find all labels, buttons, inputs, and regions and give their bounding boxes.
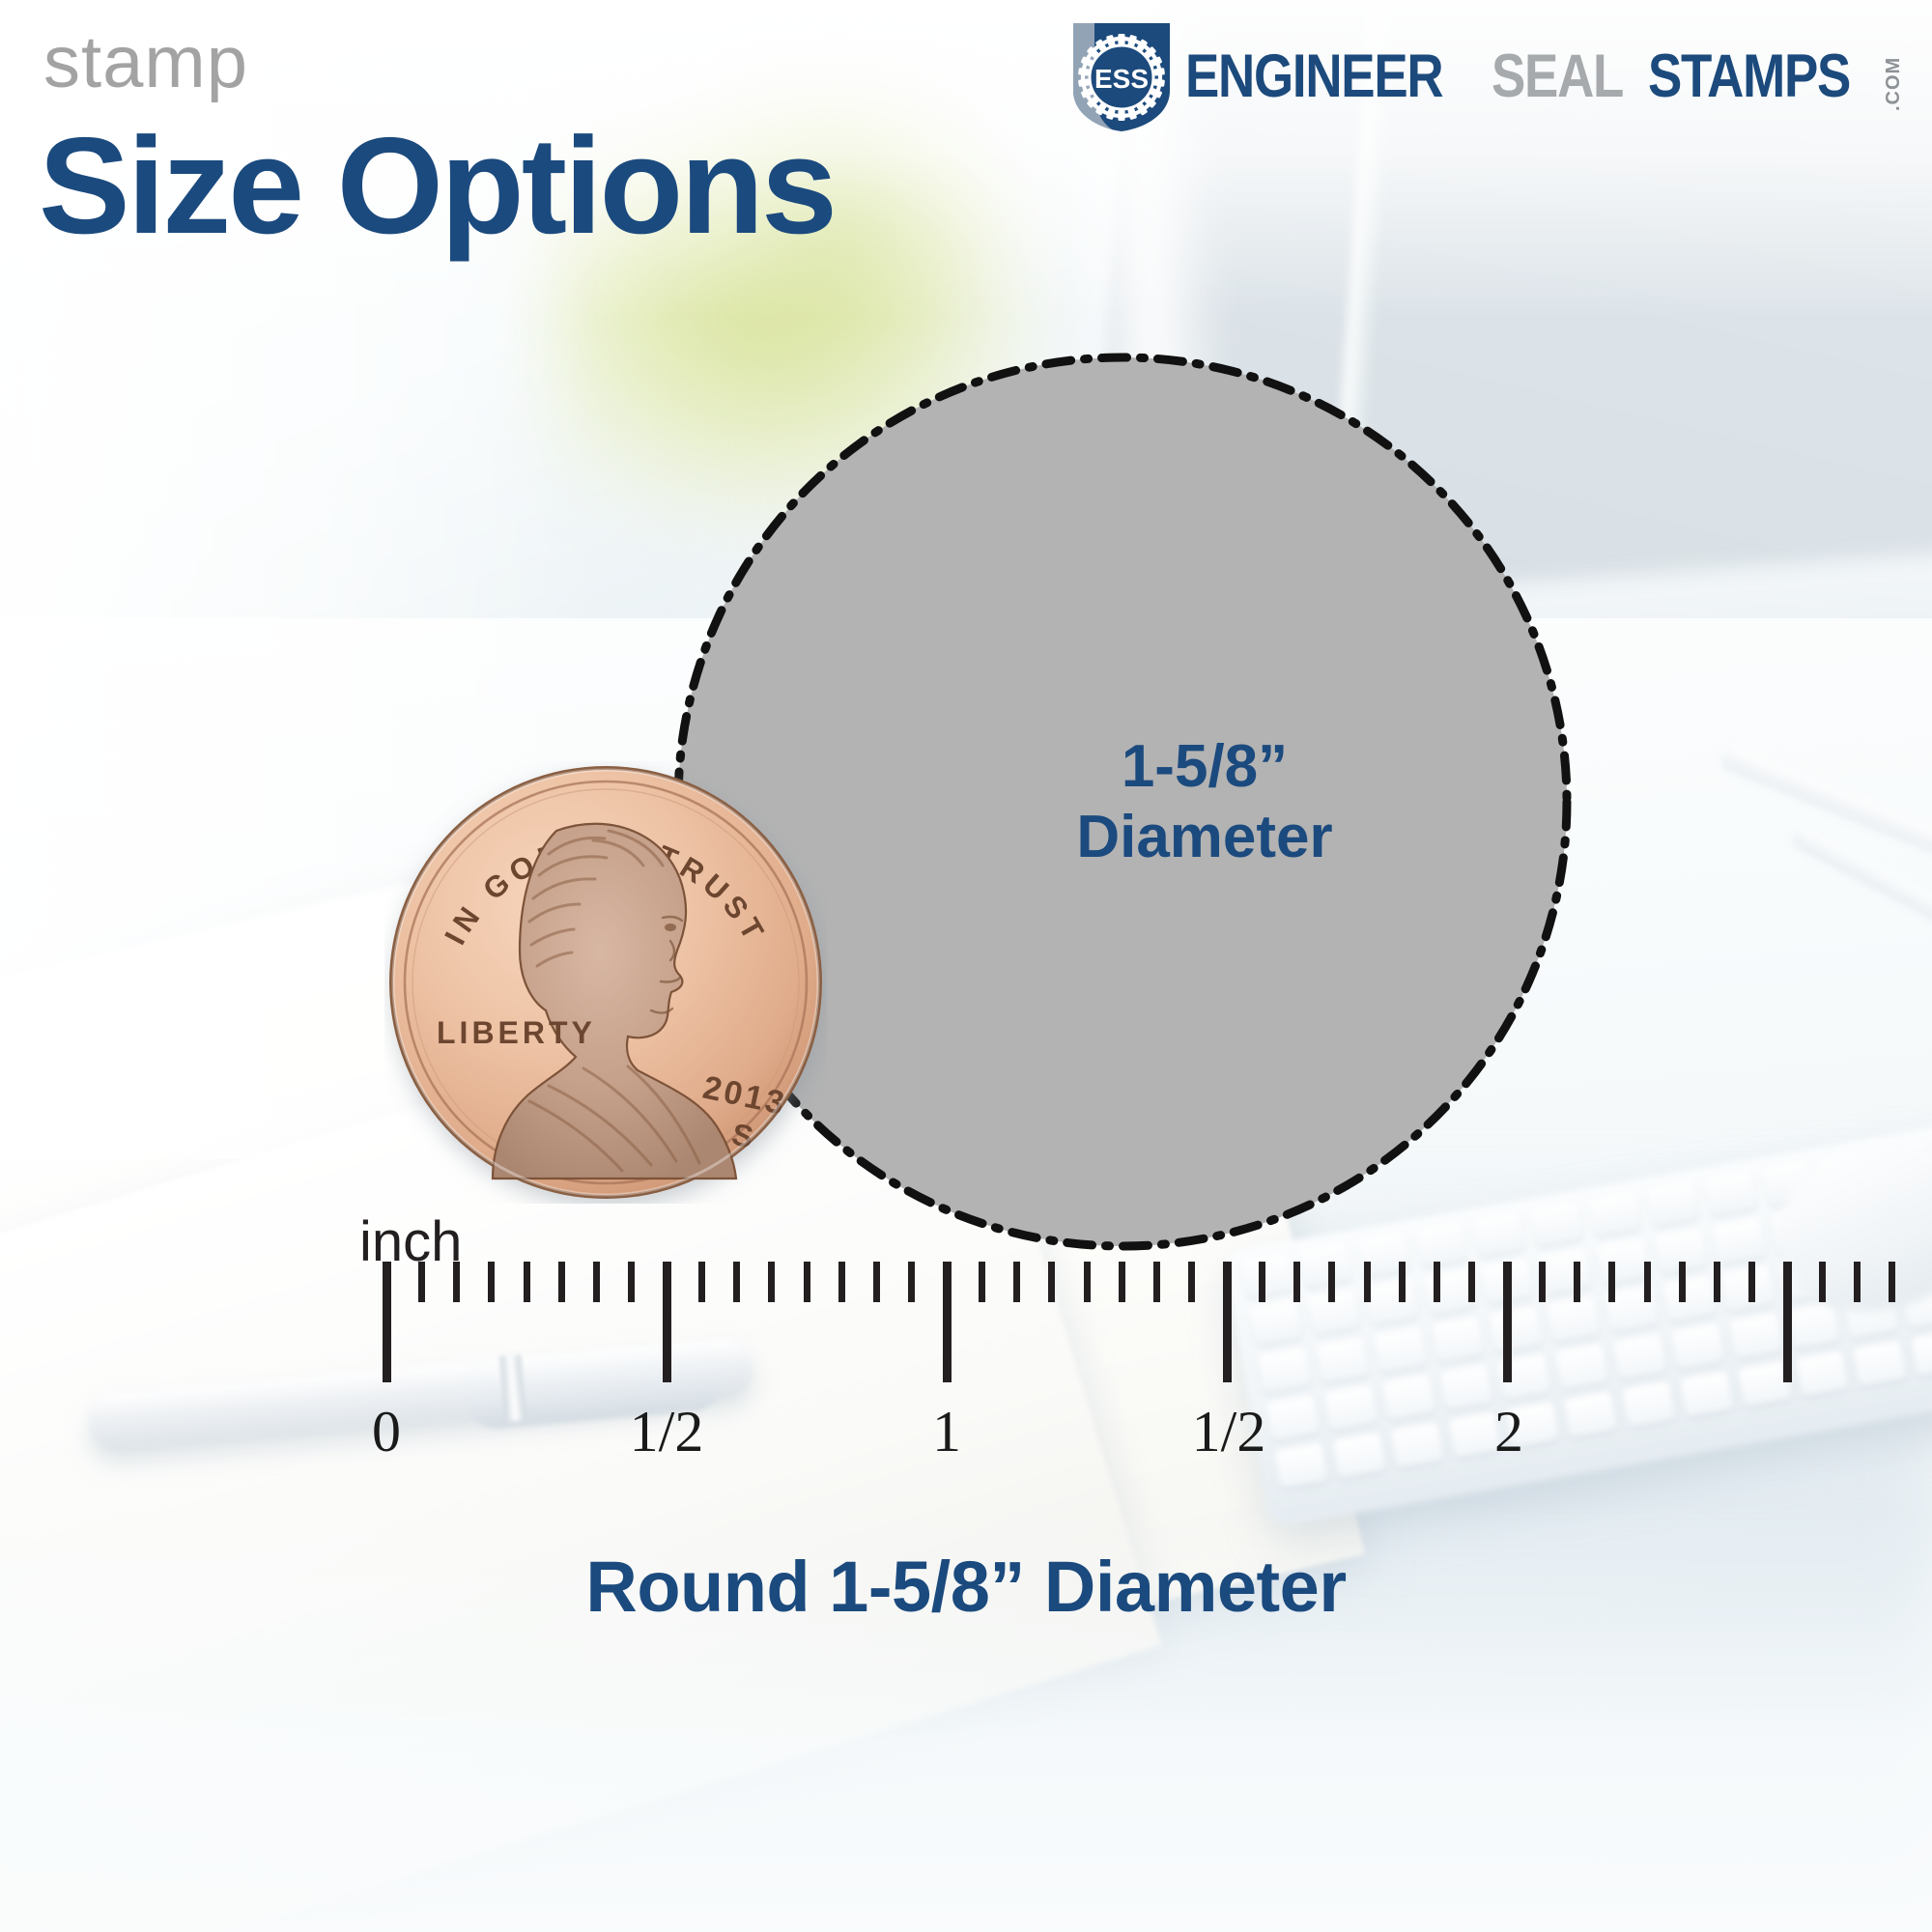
ruler-tick-minor xyxy=(804,1262,810,1302)
logo-word-seal: SEAL xyxy=(1492,46,1623,107)
ruler-tick-minor xyxy=(1714,1262,1720,1302)
ruler-tick-minor xyxy=(733,1262,740,1302)
ruler-number: 1/2 xyxy=(1192,1399,1266,1465)
ruler-tick-minor xyxy=(1364,1262,1371,1302)
size-circle-label-line1: 1-5/8” xyxy=(1122,731,1288,802)
ruler-unit-label: inch xyxy=(359,1209,462,1274)
ruler-tick-minor xyxy=(1399,1262,1406,1302)
us-penny-image: IN GOD WE TRUST xyxy=(384,761,827,1204)
ruler-tick-minor xyxy=(558,1262,565,1302)
ess-logo-wordmark: ENGINEER SEAL STAMPS .COM xyxy=(1185,19,1905,133)
coin-liberty-text: LIBERTY xyxy=(437,1015,596,1050)
ruler-tick-minor xyxy=(1539,1262,1546,1302)
ruler-number: 0 xyxy=(372,1399,401,1465)
logo-word-stamps: STAMPS xyxy=(1648,46,1850,107)
ruler-tick-major xyxy=(1503,1262,1512,1382)
ruler-tick-minor xyxy=(453,1262,460,1302)
ruler-tick-major xyxy=(663,1262,671,1382)
ruler-tick-minor xyxy=(1328,1262,1335,1302)
ruler-tick-minor xyxy=(979,1262,985,1302)
ruler-tick-minor xyxy=(873,1262,880,1302)
ruler-tick-minor xyxy=(1084,1262,1091,1302)
ruler-number: 1/2 xyxy=(630,1399,704,1465)
ruler-tick-minor xyxy=(908,1262,915,1302)
ruler-tick-major xyxy=(943,1262,952,1382)
ruler-tick-minor xyxy=(1259,1262,1265,1302)
ruler-tick-minor xyxy=(1048,1262,1055,1302)
ruler-tick-minor xyxy=(1748,1262,1755,1302)
page-title: Size Options xyxy=(39,118,835,255)
ruler-tick-major xyxy=(1783,1262,1792,1382)
ruler-tick-minor xyxy=(1013,1262,1020,1302)
ruler-tick-major xyxy=(1223,1262,1232,1382)
ess-badge-icon: ESS xyxy=(1065,19,1178,133)
ess-badge-text: ESS xyxy=(1094,64,1149,94)
ruler-tick-minor xyxy=(1854,1262,1861,1302)
ruler-tick-minor xyxy=(838,1262,845,1302)
logo-word-dotcom: .COM xyxy=(1883,42,1905,111)
ruler-tick-minor xyxy=(1468,1262,1475,1302)
inch-ruler: inch 01/211/22 xyxy=(0,1198,1932,1526)
ruler-tick-minor xyxy=(488,1262,495,1302)
ruler-tick-minor xyxy=(1188,1262,1195,1302)
ruler-tick-minor xyxy=(698,1262,705,1302)
ruler-tick-minor xyxy=(1608,1262,1615,1302)
ruler-tick-minor xyxy=(1574,1262,1580,1302)
ruler-number: 1 xyxy=(932,1399,961,1465)
ruler-number: 2 xyxy=(1494,1399,1523,1465)
size-caption: Round 1-5/8” Diameter xyxy=(0,1546,1932,1628)
ruler-tick-major xyxy=(383,1262,391,1382)
ruler-tick-minor xyxy=(593,1262,600,1302)
ruler-tick-minor xyxy=(1153,1262,1160,1302)
ruler-tick-minor xyxy=(1644,1262,1651,1302)
ruler-tick-minor xyxy=(418,1262,425,1302)
size-circle-label-line2: Diameter xyxy=(1076,802,1332,872)
ruler-tick-minor xyxy=(1119,1262,1125,1302)
ruler-tick-minor xyxy=(768,1262,775,1302)
ruler-tick-minor xyxy=(524,1262,530,1302)
ruler-tick-minor xyxy=(1293,1262,1300,1302)
ruler-tick-minor xyxy=(628,1262,635,1302)
ruler-tick-minor xyxy=(1679,1262,1686,1302)
ess-logo[interactable]: ESS ENGINEER SEAL STAMPS .COM xyxy=(1065,19,1905,133)
ruler-tick-minor xyxy=(1434,1262,1440,1302)
ruler-tick-minor xyxy=(1819,1262,1826,1302)
logo-word-engineer: ENGINEER xyxy=(1185,46,1442,107)
stamp-wordmark: stamp xyxy=(43,26,248,99)
ruler-tick-minor xyxy=(1889,1262,1895,1302)
